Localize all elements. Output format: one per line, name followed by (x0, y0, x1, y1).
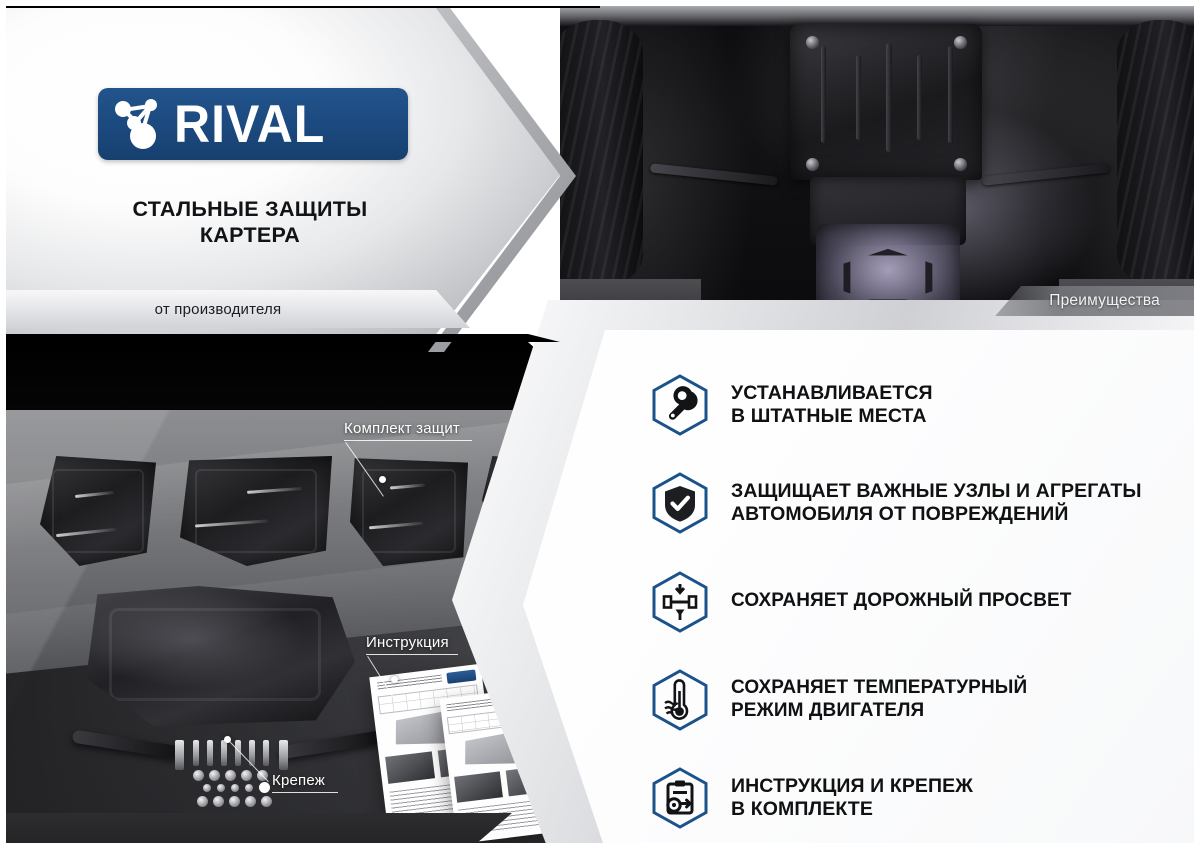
rival-product-banner: Преимущества RIVAL СТАЛЬНЫЕ ЗАЩИТЫ КАРТЕ… (0, 0, 1200, 849)
frame-left (0, 0, 6, 849)
wrench-icon (651, 374, 709, 436)
callout-manual-label: Инструкция (366, 634, 458, 651)
molecule-icon (110, 94, 172, 154)
tab-advantages[interactable]: Преимущества (995, 286, 1200, 316)
page-title: СТАЛЬНЫЕ ЗАЩИТЫ КАРТЕРА (40, 196, 460, 248)
tab-advantages-label: Преимущества (1049, 292, 1160, 310)
wheel-left (560, 20, 643, 285)
feature-item-0: УСТАНАВЛИВАЕТСЯ В ШТАТНЫЕ МЕСТА (651, 374, 1176, 436)
installed-skid-plate-upper (790, 24, 982, 180)
brand-logo[interactable]: RIVAL (98, 88, 408, 160)
page-title-line2: КАРТЕРА (40, 222, 460, 248)
suspension-arm-left (649, 163, 777, 185)
feature-item-2: СОХРАНЯЕТ ДОРОЖНЫЙ ПРОСВЕТ (651, 571, 1176, 633)
feature-label-0: УСТАНАВЛИВАЕТСЯ В ШТАТНЫЕ МЕСТА (731, 382, 933, 429)
header-bottom-rule (0, 334, 560, 342)
feature-item-1: ЗАЩИЩАЕТ ВАЖНЫЕ УЗЛЫ И АГРЕГАТЫ АВТОМОБИ… (651, 472, 1176, 534)
skid-plate-1 (40, 456, 156, 566)
page-title-line1: СТАЛЬНЫЕ ЗАЩИТЫ (40, 196, 460, 222)
wheel-right (1117, 20, 1200, 285)
frame-bottom (0, 843, 1200, 849)
feature-item-3: СОХРАНЯЕТ ТЕМПЕРАТУРНЫЙ РЕЖИМ ДВИГАТЕЛЯ (651, 669, 1176, 731)
thermometer-icon (651, 669, 709, 731)
frame-right (1194, 0, 1200, 849)
callout-hardware-label: Крепеж (272, 772, 338, 789)
shield-check-icon (651, 472, 709, 534)
subtitle-text: от производителя (0, 290, 436, 328)
feature-label-2: СОХРАНЯЕТ ДОРОЖНЫЙ ПРОСВЕТ (731, 590, 1072, 613)
features-panel: УСТАНАВЛИВАЕТСЯ В ШТАТНЫЕ МЕСТА ЗАЩИЩАЕТ… (523, 330, 1200, 849)
feature-label-3: СОХРАНЯЕТ ТЕМПЕРАТУРНЫЙ РЕЖИМ ДВИГАТЕЛЯ (731, 677, 1027, 723)
suspension-arm-right (982, 163, 1110, 185)
subtitle-bar: от производителя (0, 290, 470, 328)
skid-plate-2 (180, 456, 332, 566)
callout-kit-label: Комплект защит (344, 420, 472, 437)
clipboard-bolt-icon (651, 767, 709, 829)
callout-kit: Комплект защит (344, 420, 472, 441)
callout-hardware: Крепеж (272, 772, 338, 793)
callout-manual: Инструкция (366, 634, 458, 655)
brand-name: RIVAL (174, 98, 325, 151)
ground-clearance-icon (651, 571, 709, 633)
feature-item-4: ИНСТРУКЦИЯ И КРЕПЕЖ В КОМПЛЕКТЕ (651, 767, 1176, 829)
feature-label-1: ЗАЩИЩАЕТ ВАЖНЫЕ УЗЛЫ И АГРЕГАТЫ АВТОМОБИ… (731, 480, 1142, 527)
feature-label-4: ИНСТРУКЦИЯ И КРЕПЕЖ В КОМПЛЕКТЕ (731, 775, 973, 822)
frame-top (0, 0, 1200, 6)
